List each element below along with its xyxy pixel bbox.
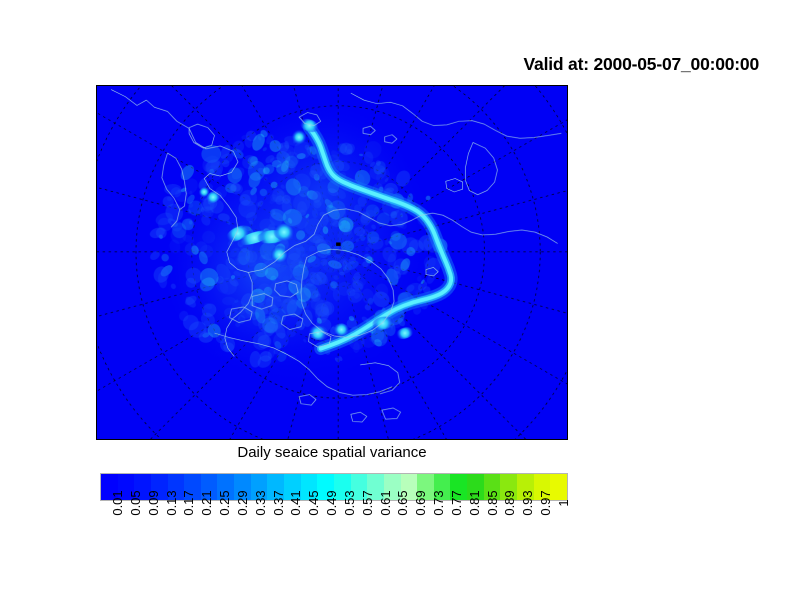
colorbar-tick-label: 0.85 [485,490,500,515]
plot-caption: Daily seaice spatial variance [96,444,568,461]
colorbar-tick-label: 0.17 [181,490,196,515]
colorbar-tick-label: 0.93 [520,490,535,515]
colorbar-tick-label: 0.09 [146,490,161,515]
colorbar-tick-label: 0.89 [502,490,517,515]
colorbar-tick-label: 0.13 [164,490,179,515]
colorbar-tick-label: 0.97 [538,490,553,515]
colorbar-tick-label: 0.25 [217,490,232,515]
colorbar-tick-label: 0.53 [342,490,357,515]
map-raster [97,86,567,439]
figure-root: Valid at: 2000-05-07_00:00:00 135°E150°E… [0,0,792,612]
colorbar-tick-label: 0.37 [271,490,286,515]
map-plot-area: 135°E150°E165°E180°15°E0°15°W30°W45°W60°… [96,85,568,440]
colorbar-tick-label: 0.81 [467,490,482,515]
colorbar-tick-label: 0.41 [288,490,303,515]
colorbar-tick-label: 0.49 [324,490,339,515]
colorbar-tick-label: 0.29 [235,490,250,515]
colorbar-tick-label: 0.33 [253,490,268,515]
colorbar-tick-label: 0.45 [306,490,321,515]
colorbar-tick-label: 0.05 [128,490,143,515]
colorbar-tick-label: 0.61 [378,490,393,515]
colorbar-tick-label: 0.77 [449,490,464,515]
colorbar-tick-label: 0.65 [395,490,410,515]
colorbar-tick-label: 0.01 [110,490,125,515]
colorbar-tick-label: 0.57 [360,490,375,515]
colorbar-tick-label: 1 [556,499,571,506]
page-title: Valid at: 2000-05-07_00:00:00 [524,54,759,75]
colorbar-tick-label: 0.21 [199,490,214,515]
colorbar-tick-label: 0.69 [413,490,428,515]
colorbar-tick-labels: 0.010.050.090.130.170.210.250.290.330.37… [100,503,568,563]
colorbar-tick-label: 0.73 [431,490,446,515]
